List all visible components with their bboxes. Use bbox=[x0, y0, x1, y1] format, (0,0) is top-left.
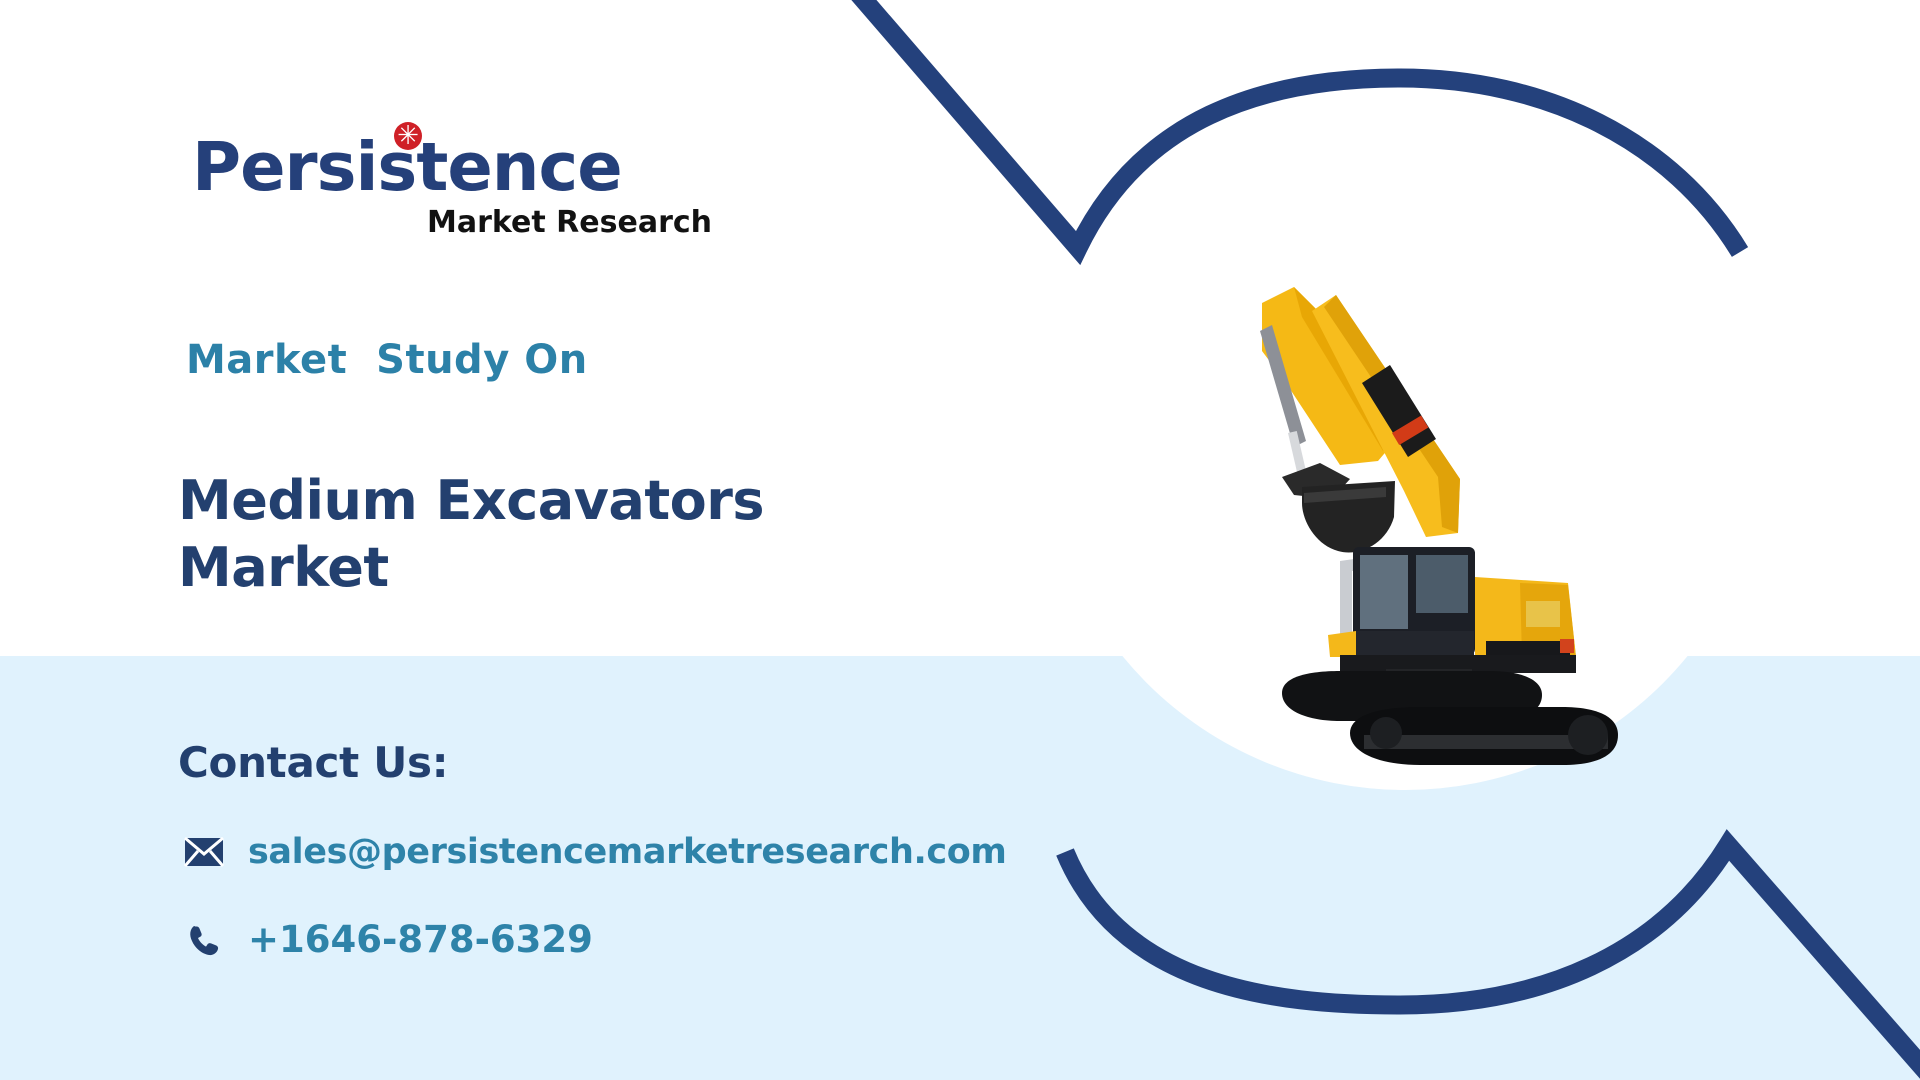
excavator-idler-wheel bbox=[1568, 715, 1608, 755]
excavator-tail-light bbox=[1560, 639, 1574, 653]
excavator-cab-lower bbox=[1356, 631, 1474, 657]
promo-banner: Persistence ✳ Market Research Market Stu… bbox=[0, 0, 1920, 1080]
contact-phone-row[interactable]: +1646-878-6329 bbox=[182, 918, 593, 961]
phone-icon bbox=[182, 920, 226, 960]
excavator-cab-window-side bbox=[1416, 555, 1468, 613]
page-title: Medium Excavators Market bbox=[178, 468, 878, 602]
excavator-image bbox=[1190, 265, 1620, 795]
excavator-drive-wheel bbox=[1370, 717, 1402, 749]
asterisk-badge-icon: ✳ bbox=[394, 122, 422, 150]
brand-logo[interactable]: Persistence ✳ Market Research bbox=[192, 134, 712, 240]
contact-email-row[interactable]: sales@persistencemarketresearch.com bbox=[182, 832, 1006, 872]
contact-phone-value: +1646-878-6329 bbox=[248, 918, 593, 961]
contact-heading: Contact Us: bbox=[178, 738, 448, 787]
contact-email-value: sales@persistencemarketresearch.com bbox=[248, 832, 1006, 872]
envelope-icon bbox=[182, 832, 226, 872]
excavator-track-group bbox=[1282, 671, 1618, 765]
excavator-front-plate bbox=[1328, 631, 1356, 657]
excavator-boom-group bbox=[1260, 287, 1460, 553]
excavator-engine-decal bbox=[1526, 601, 1560, 627]
eyebrow-text: Market Study On bbox=[186, 337, 588, 383]
excavator-cab-window-front bbox=[1360, 555, 1408, 629]
brand-logo-subtitle: Market Research bbox=[192, 205, 712, 240]
excavator-engine-vent bbox=[1486, 641, 1570, 655]
